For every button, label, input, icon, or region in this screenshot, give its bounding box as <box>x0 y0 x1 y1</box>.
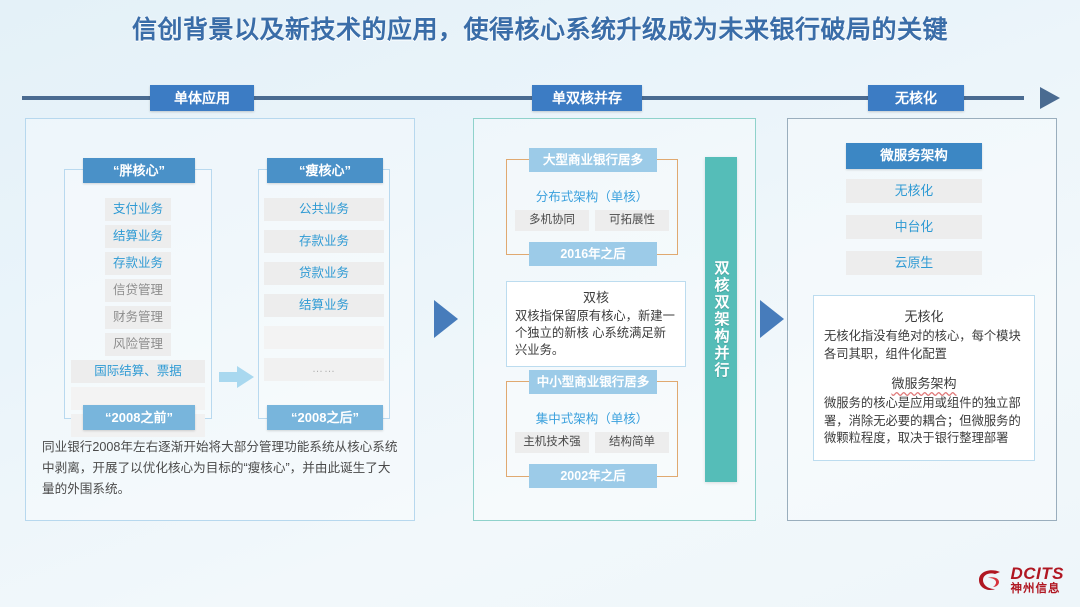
dcits-swirl-icon <box>976 565 1006 595</box>
coreless-description-box: 无核化 无核化指没有绝对的核心，每个模块各司其职，组件化配置 微服务架构 微服务… <box>813 295 1035 461</box>
large-bank-tag-2[interactable]: 可拓展性 <box>595 210 669 231</box>
thin-core-period: “2008之后” <box>267 405 383 430</box>
small-bank-title: 中小型商业银行居多 <box>529 370 657 394</box>
company-logo: DCITS 神州信息 <box>976 565 1065 596</box>
fat-core-chip-settlement[interactable]: 结算业务 <box>105 225 171 248</box>
logo-text-cn: 神州信息 <box>1011 584 1065 596</box>
thin-core-chip-ellipsis: …… <box>264 358 384 381</box>
coreless-chip-cloud-native[interactable]: 云原生 <box>846 251 982 275</box>
dual-core-definition-box: 双核 双核指保留原有核心，新建一个独立的新核 心系统满足新兴业务。 <box>506 281 686 367</box>
fat-core-chip-finance[interactable]: 财务管理 <box>105 306 171 329</box>
large-bank-title: 大型商业银行居多 <box>529 148 657 172</box>
panel-arrow-2-icon <box>760 300 784 338</box>
fat-core-chip-intl-settlement[interactable]: 国际结算、票据 <box>71 360 205 383</box>
small-bank-tag-2[interactable]: 结构简单 <box>595 432 669 453</box>
timeline: 单体应用 单双核并存 无核化 <box>22 85 1060 111</box>
thin-core-box: “瘦核心” 公共业务 存款业务 贷款业务 结算业务 …… “2008之后” <box>258 169 390 419</box>
fat-core-chip-deposit[interactable]: 存款业务 <box>105 252 171 275</box>
fat-core-chip-credit[interactable]: 信贷管理 <box>105 279 171 302</box>
timeline-stage-1[interactable]: 单体应用 <box>150 85 254 111</box>
small-bank-period: 2002年之后 <box>529 464 657 488</box>
coreless-section-1-body: 无核化指没有绝对的核心，每个模块各司其职，组件化配置 <box>824 328 1024 363</box>
large-bank-box: 大型商业银行居多 分布式架构（单核） 多机协同 可拓展性 2016年之后 <box>506 159 678 255</box>
timeline-arrow-icon <box>1040 87 1060 109</box>
thin-core-chip-loan[interactable]: 贷款业务 <box>264 262 384 285</box>
coreless-chip-list: 无核化 中台化 云原生 <box>846 179 982 275</box>
coreless-chip-mid-office[interactable]: 中台化 <box>846 215 982 239</box>
dual-core-definition-title: 双核 <box>515 287 677 306</box>
large-bank-tags: 多机协同 可拓展性 <box>515 210 669 231</box>
dual-core-vertical-banner-label: 双核双架构并行 <box>711 260 732 379</box>
panel-monolithic-application: “胖核心” 支付业务 结算业务 存款业务 信贷管理 财务管理 风险管理 国际结算… <box>25 118 415 521</box>
large-bank-tag-1[interactable]: 多机协同 <box>515 210 589 231</box>
small-bank-tags: 主机技术强 结构简单 <box>515 432 669 453</box>
small-bank-box: 中小型商业银行居多 集中式架构（单核） 主机技术强 结构简单 2002年之后 <box>506 381 678 477</box>
transition-arrow-icon <box>219 366 255 388</box>
fat-core-period: “2008之前” <box>83 405 195 430</box>
fat-core-chip-risk[interactable]: 风险管理 <box>105 333 171 356</box>
coreless-chip-no-core[interactable]: 无核化 <box>846 179 982 203</box>
thin-core-chip-deposit[interactable]: 存款业务 <box>264 230 384 253</box>
thin-core-title: “瘦核心” <box>267 158 383 183</box>
page-title-wrap: 信创背景以及新技术的应用，使得核心系统升级成为未来银行破局的关键 <box>0 10 1080 46</box>
panel-dual-core-coexist: 大型商业银行居多 分布式架构（单核） 多机协同 可拓展性 2016年之后 双核 … <box>473 118 756 521</box>
panel-arrow-1-icon <box>434 300 458 338</box>
fat-core-chip-payment[interactable]: 支付业务 <box>105 198 171 221</box>
small-bank-subtitle: 集中式架构（单核） <box>507 408 677 427</box>
panel-coreless: 微服务架构 无核化 中台化 云原生 无核化 无核化指没有绝对的核心，每个模块各司… <box>787 118 1057 521</box>
large-bank-period: 2016年之后 <box>529 242 657 266</box>
timeline-stage-2[interactable]: 单双核并存 <box>532 85 642 111</box>
coreless-section-2-body: 微服务的核心是应用或组件的独立部署，消除无必要的耦合；但微服务的微颗粒程度，取决… <box>824 395 1024 448</box>
dual-core-vertical-banner: 双核双架构并行 <box>705 157 737 482</box>
large-bank-subtitle: 分布式架构（单核） <box>507 186 677 205</box>
fat-core-title: “胖核心” <box>83 158 195 183</box>
coreless-section-1-title: 无核化 <box>824 306 1024 325</box>
page-title: 信创背景以及新技术的应用，使得核心系统升级成为未来银行破局的关键 <box>0 10 1080 46</box>
fat-core-chip-grid: 支付业务 结算业务 存款业务 信贷管理 财务管理 风险管理 国际结算、票据 …… <box>71 198 205 437</box>
logo-text-en: DCITS <box>1011 565 1065 582</box>
small-bank-tag-1[interactable]: 主机技术强 <box>515 432 589 453</box>
fat-core-box: “胖核心” 支付业务 结算业务 存款业务 信贷管理 财务管理 风险管理 国际结算… <box>64 169 212 419</box>
coreless-section-2-title: 微服务架构 <box>824 373 1024 392</box>
thin-core-chip-list: 公共业务 存款业务 贷款业务 结算业务 …… <box>265 198 383 381</box>
panel1-description: 同业银行2008年左右逐渐开始将大部分管理功能系统从核心系统中剥离，开展了以优化… <box>42 437 400 500</box>
timeline-stage-3[interactable]: 无核化 <box>868 85 964 111</box>
thin-core-chip-settlement[interactable]: 结算业务 <box>264 294 384 317</box>
thin-core-chip-blank <box>264 326 384 349</box>
logo-text: DCITS 神州信息 <box>1011 565 1065 596</box>
thin-core-chip-public[interactable]: 公共业务 <box>264 198 384 221</box>
microservice-title: 微服务架构 <box>846 143 982 169</box>
dual-core-definition-body: 双核指保留原有核心，新建一个独立的新核 心系统满足新兴业务。 <box>515 308 677 359</box>
